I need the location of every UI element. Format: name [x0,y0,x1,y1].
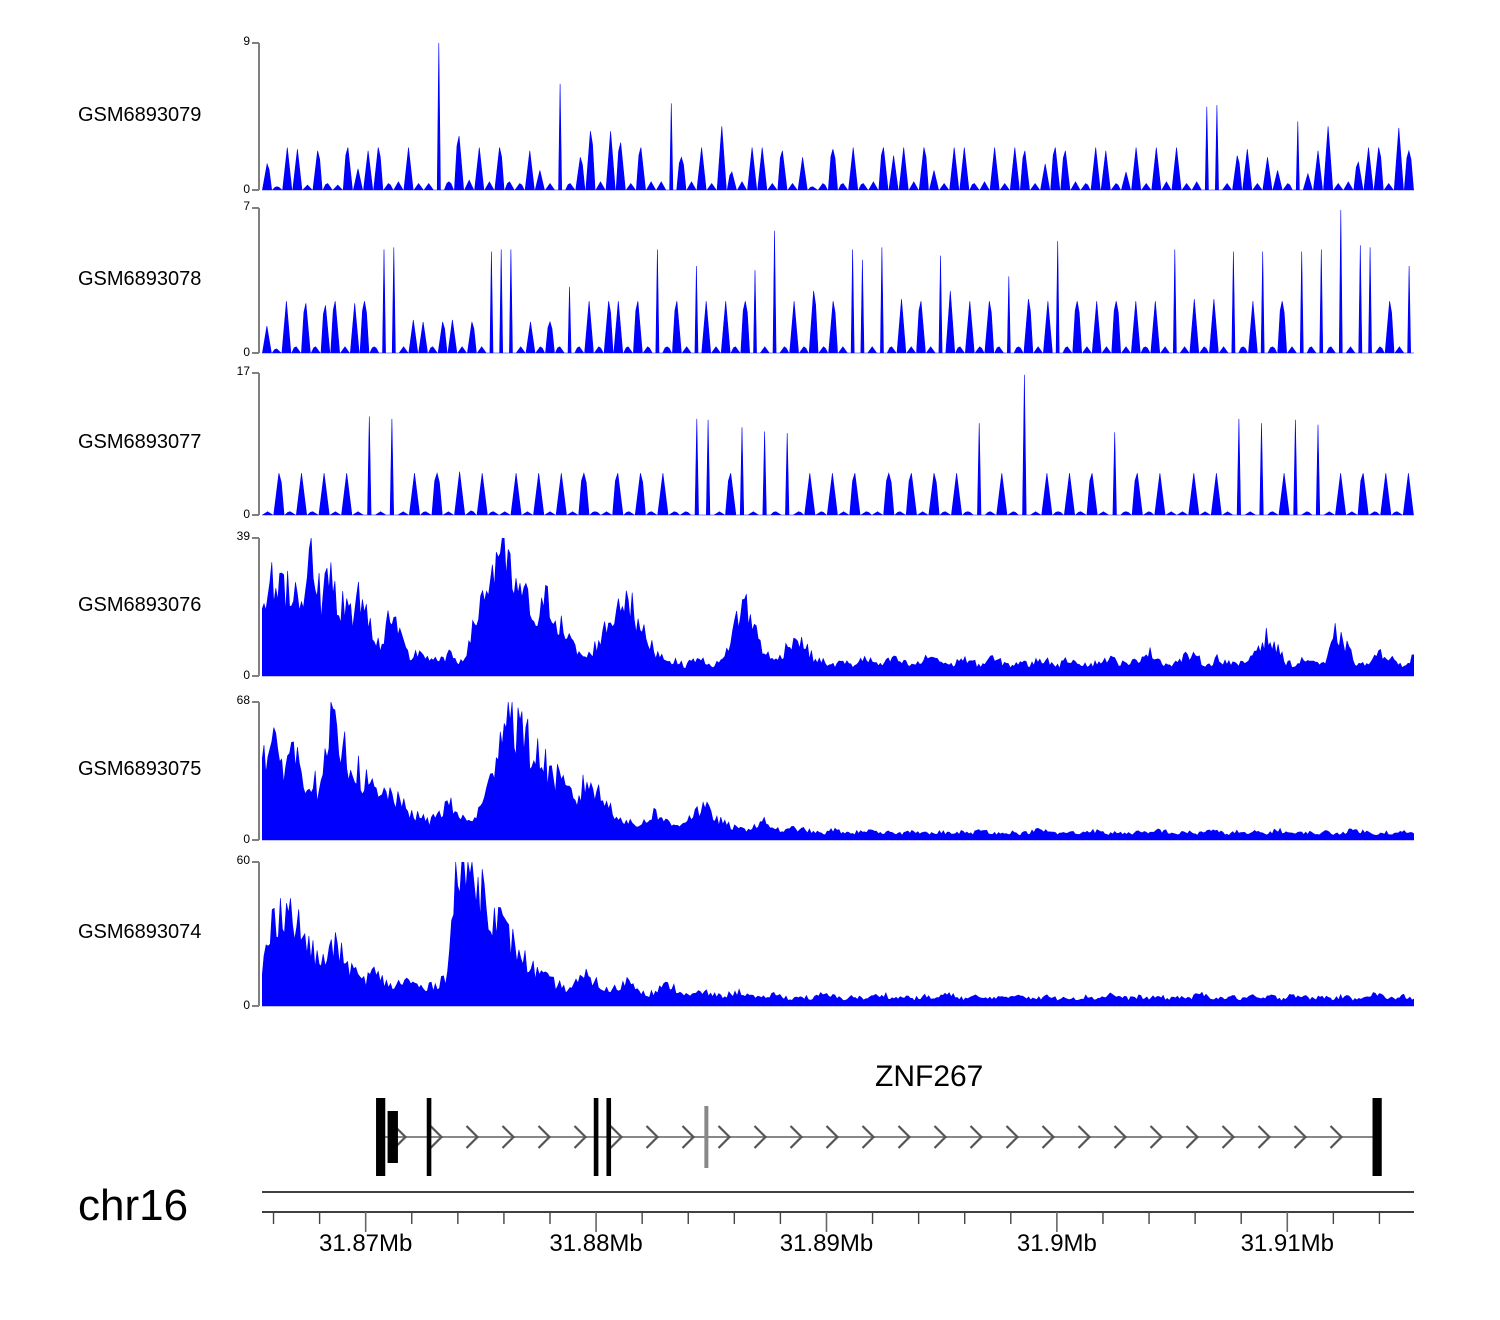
ruler-tick-label: 31.89Mb [780,1230,873,1258]
coverage-area [262,43,1414,191]
y-axis-min-label: 0 [243,345,250,359]
y-axis-max-label: 7 [243,199,250,213]
gene-name-label: ZNF267 [875,1060,983,1094]
track-sample-label: GSM6893078 [78,268,201,291]
coverage-area [262,538,1414,677]
gene-model-graphic [0,1095,1500,1180]
y-axis [252,861,266,1007]
ruler-tick-label: 31.91Mb [1241,1230,1334,1258]
y-axis-min-label: 0 [243,832,250,846]
y-axis-max-label: 68 [237,693,250,707]
y-axis [252,701,266,841]
coverage-area [262,373,1414,516]
y-axis [252,42,266,191]
track-sample-label: GSM6893076 [78,594,201,617]
y-axis-min-label: 0 [243,507,250,521]
ruler-tick-label: 31.88Mb [549,1230,642,1258]
ruler-tick-label: 31.9Mb [1017,1230,1097,1258]
y-axis [252,372,266,516]
y-axis-min-label: 0 [243,668,250,682]
track-sample-label: GSM6893075 [78,758,201,781]
y-axis-min-label: 0 [243,998,250,1012]
coverage-area [262,862,1414,1007]
y-axis-min-label: 0 [243,182,250,196]
y-axis-max-label: 39 [237,529,250,543]
track-sample-label: GSM6893077 [78,431,201,454]
genome-browser-view: GSM689307990GSM689307870GSM6893077170GSM… [0,0,1500,1320]
track-sample-label: GSM6893079 [78,104,201,127]
ruler-tick-label: 31.87Mb [319,1230,412,1258]
y-axis [252,207,266,354]
coverage-area [262,208,1414,354]
ruler-graphic [0,1188,1500,1234]
y-axis-max-label: 17 [237,364,250,378]
y-axis-max-label: 60 [237,853,250,867]
track-sample-label: GSM6893074 [78,921,201,944]
y-axis-max-label: 9 [243,34,250,48]
coverage-area [262,702,1414,841]
y-axis [252,537,266,677]
